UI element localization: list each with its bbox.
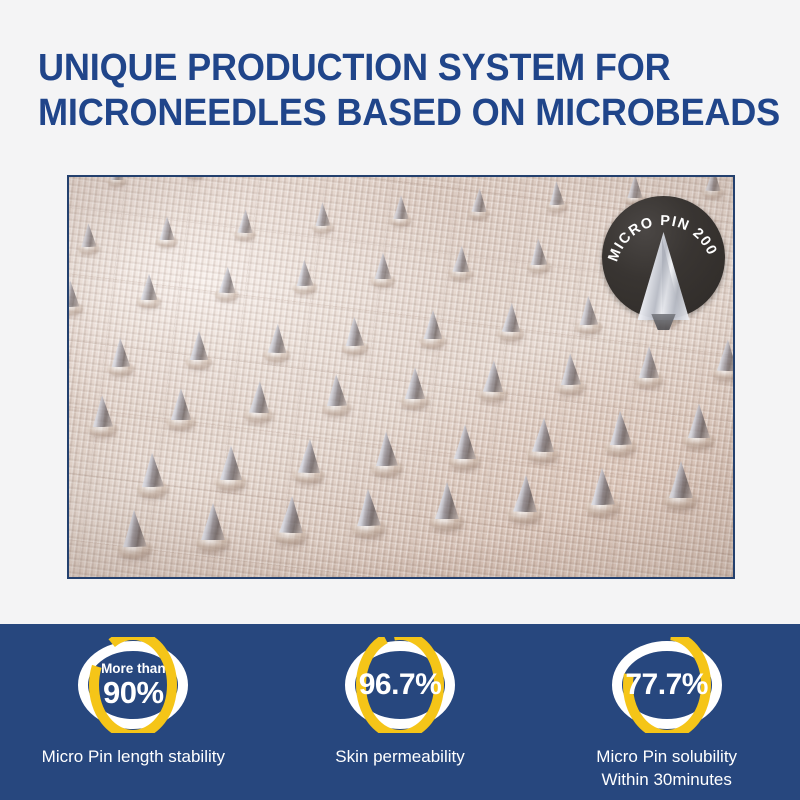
gauge-center-2: 96.7% [341,637,459,733]
gauge-center-1: More than 90% [74,637,192,733]
badge-arc-text: MICRO PIN 200 [605,213,720,264]
stats-band: More than 90% Micro Pin length stability… [0,624,800,800]
gauge-value-3: 77.7% [625,670,708,700]
badge-arc-text-svg: MICRO PIN 200 [602,196,725,319]
page-title-line-2: MICRONEEDLES BASED ON MICROBEADS [38,91,741,136]
micro-pin-200-badge: MICRO PIN 200 [602,196,725,319]
page-title-line-1: UNIQUE PRODUCTION SYSTEM FOR [38,46,741,91]
stat-label-2: Skin permeability [335,745,464,768]
stat-micro-pin-length-stability: More than 90% Micro Pin length stability [0,624,267,800]
page-title: UNIQUE PRODUCTION SYSTEM FOR MICRONEEDLE… [38,46,778,136]
gauge-micro-pin-length-stability: More than 90% [74,637,192,733]
gauge-micro-pin-solubility: 77.7% [608,637,726,733]
gauge-prefix-1: More than [101,662,166,676]
gauge-skin-permeability: 96.7% [341,637,459,733]
stat-skin-permeability: 96.7% Skin permeability [267,624,534,800]
stat-micro-pin-solubility: 77.7% Micro Pin solubility Within 30minu… [533,624,800,800]
gauge-center-3: 77.7% [608,637,726,733]
stat-label-1: Micro Pin length stability [42,745,225,768]
gauge-value-2: 96.7% [359,670,442,700]
gauge-value-1: 90% [103,677,164,708]
stats-row: More than 90% Micro Pin length stability… [0,624,800,800]
stat-label-3: Micro Pin solubility Within 30minutes [596,745,737,791]
